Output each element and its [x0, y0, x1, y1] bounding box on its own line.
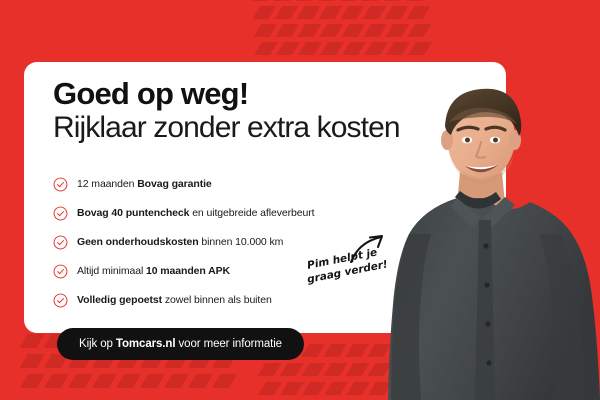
- check-circle-icon: [53, 177, 68, 192]
- feature-trail: binnen 10.000 km: [199, 236, 284, 248]
- list-item: Geen onderhoudskosten binnen 10.000 km: [53, 228, 453, 257]
- feature-bold: Geen onderhoudskosten: [77, 236, 199, 248]
- list-item: Volledig gepoetst zowel binnen als buite…: [53, 286, 453, 315]
- feature-lead: 12 maanden: [77, 178, 137, 190]
- list-item: Bovag 40 puntencheck en uitgebreide afle…: [53, 199, 453, 228]
- check-circle-icon: [53, 293, 68, 308]
- list-item: 12 maanden Bovag garantie: [53, 170, 453, 199]
- page-subtitle: Rijklaar zonder extra kosten: [53, 111, 483, 145]
- content-card: Goed op weg! Rijklaar zonder extra koste…: [24, 62, 506, 333]
- feature-bold: Volledig gepoetst: [77, 294, 162, 306]
- feature-list: 12 maanden Bovag garantie Bovag 40 punte…: [53, 170, 453, 315]
- feature-trail: en uitgebreide afleverbeurt: [189, 207, 314, 219]
- feature-text: Geen onderhoudskosten binnen 10.000 km: [77, 236, 283, 249]
- card-heading-block: Goed op weg! Rijklaar zonder extra koste…: [53, 77, 483, 145]
- cta-trail: voor meer informatie: [175, 338, 282, 350]
- cta-button[interactable]: Kijk op Tomcars.nl voor meer informatie: [57, 328, 304, 360]
- cta-label: Kijk op Tomcars.nl voor meer informatie: [79, 338, 282, 350]
- cta-lead: Kijk op: [79, 338, 116, 350]
- feature-text: Altijd minimaal 10 maanden APK: [77, 265, 230, 278]
- feature-text: 12 maanden Bovag garantie: [77, 178, 212, 191]
- promo-banner: Goed op weg! Rijklaar zonder extra koste…: [0, 0, 600, 400]
- feature-text: Bovag 40 puntencheck en uitgebreide afle…: [77, 207, 314, 220]
- check-circle-icon: [53, 235, 68, 250]
- feature-lead: Altijd minimaal: [77, 265, 146, 277]
- list-item: Altijd minimaal 10 maanden APK: [53, 257, 453, 286]
- feature-bold: Bovag garantie: [137, 178, 211, 190]
- cta-bold: Tomcars.nl: [116, 338, 176, 350]
- page-title: Goed op weg!: [53, 77, 483, 110]
- feature-bold: 10 maanden APK: [146, 265, 230, 277]
- feature-trail: zowel binnen als buiten: [162, 294, 272, 306]
- check-circle-icon: [53, 264, 68, 279]
- feature-text: Volledig gepoetst zowel binnen als buite…: [77, 294, 272, 307]
- check-circle-icon: [53, 206, 68, 221]
- feature-bold: Bovag 40 puntencheck: [77, 207, 189, 219]
